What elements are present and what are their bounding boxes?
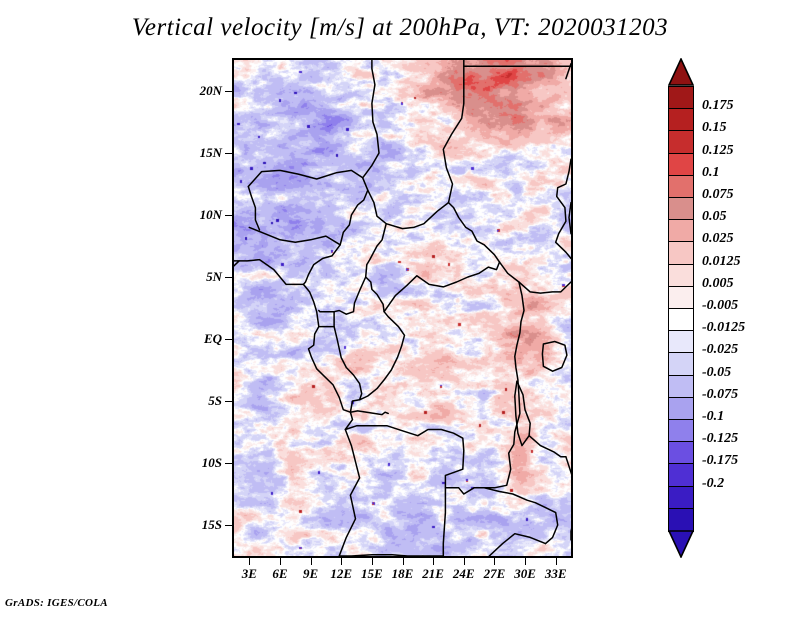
x-tick-label: 33E: [534, 566, 578, 582]
colorbar-swatch: [668, 397, 694, 421]
colorbar-tick-label: -0.175: [702, 453, 738, 469]
y-tick-label: 10N: [180, 207, 222, 223]
x-tick: [341, 558, 342, 565]
colorbar-tick-label: -0.2: [702, 476, 724, 492]
x-tick: [249, 558, 250, 565]
border-line: [248, 187, 259, 230]
colorbar-tick-label: 0.175: [702, 98, 734, 114]
x-tick: [433, 558, 434, 565]
x-tick: [556, 558, 557, 565]
colorbar-tick-label: 0.1: [702, 165, 720, 181]
colorbar-swatch: [668, 175, 694, 199]
colorbar: 0.1750.150.1250.10.0750.050.0250.01250.0…: [668, 58, 694, 558]
x-tick: [525, 558, 526, 565]
colorbar-swatch: [668, 86, 694, 110]
x-tick: [464, 558, 465, 565]
colorbar-swatch: [668, 286, 694, 310]
y-tick: [225, 525, 232, 526]
colorbar-tick-label: -0.075: [702, 387, 738, 403]
attribution-footer: GrADS: IGES/COLA: [5, 597, 108, 609]
colorbar-tick-label: 0.15: [702, 120, 727, 136]
page-title: Vertical velocity [m/s] at 200hPa, VT: 2…: [0, 14, 800, 42]
border-line: [334, 277, 366, 400]
x-tick: [372, 558, 373, 565]
colorbar-swatch: [668, 308, 694, 332]
border-line: [386, 203, 499, 263]
map-plot-area: [232, 58, 573, 558]
y-tick: [225, 277, 232, 278]
colorbar-tick-label: -0.1: [702, 409, 724, 425]
colorbar-swatch: [668, 219, 694, 243]
colorbar-swatch: [668, 130, 694, 154]
x-tick-label: 27E: [472, 566, 516, 582]
y-tick: [225, 339, 232, 340]
x-tick-label: 6E: [258, 566, 302, 582]
colorbar-swatch: [668, 108, 694, 132]
colorbar-swatch: [668, 419, 694, 443]
border-line: [366, 190, 387, 312]
colorbar-tick-label: 0.05: [702, 209, 727, 225]
border-line: [339, 555, 443, 556]
y-tick-label: 15N: [180, 145, 222, 161]
border-line: [345, 426, 484, 494]
x-tick: [280, 558, 281, 565]
border-line: [248, 170, 362, 186]
y-tick-label: 5S: [180, 393, 222, 409]
colorbar-tick-label: 0.025: [702, 231, 734, 247]
colorbar-tick-label: 0.005: [702, 276, 734, 292]
colorbar-swatch: [668, 197, 694, 221]
border-line: [566, 457, 571, 519]
colorbar-swatch: [668, 153, 694, 177]
x-tick-label: 18E: [381, 566, 425, 582]
border-line: [350, 411, 388, 415]
x-tick: [403, 558, 404, 565]
colorbar-swatch: [668, 241, 694, 265]
colorbar-tick-label: -0.0125: [702, 320, 745, 336]
colorbar-swatch: [668, 352, 694, 376]
country-borders-overlay: [234, 60, 571, 556]
x-tick: [494, 558, 495, 565]
border-line: [384, 262, 499, 312]
y-tick-label: 15S: [180, 517, 222, 533]
border-line: [489, 534, 545, 556]
border-line: [363, 60, 379, 178]
x-tick: [311, 558, 312, 565]
y-tick: [225, 215, 232, 216]
border-line: [234, 260, 360, 556]
border-line: [569, 203, 571, 234]
y-tick: [225, 463, 232, 464]
border-line: [529, 436, 566, 457]
colorbar-swatch: [668, 508, 694, 532]
colorbar-cap-top: [668, 58, 694, 86]
border-line: [319, 311, 334, 312]
x-tick-label: 15E: [350, 566, 394, 582]
colorbar-tick-label: -0.125: [702, 431, 738, 447]
x-tick-label: 3E: [227, 566, 271, 582]
colorbar-swatch: [668, 375, 694, 399]
colorbar-tick-label: 0.125: [702, 143, 734, 159]
border-line: [500, 262, 572, 293]
x-tick-label: 24E: [442, 566, 486, 582]
colorbar-tick-label: -0.005: [702, 298, 738, 314]
x-tick-label: 9E: [289, 566, 333, 582]
colorbar-cap-bottom: [668, 530, 694, 558]
y-tick: [225, 401, 232, 402]
border-line: [249, 227, 340, 244]
x-tick-label: 12E: [319, 566, 363, 582]
x-tick-label: 21E: [411, 566, 455, 582]
border-line: [443, 60, 464, 203]
colorbar-swatch: [668, 463, 694, 487]
colorbar-tick-label: 0.0125: [702, 254, 741, 270]
border-line: [556, 159, 571, 258]
border-line: [515, 381, 530, 445]
colorbar-tick-label: -0.05: [702, 365, 731, 381]
y-tick: [225, 153, 232, 154]
border-line: [542, 342, 567, 372]
y-tick-label: 10S: [180, 455, 222, 471]
colorbar-swatch: [668, 264, 694, 288]
y-tick: [225, 91, 232, 92]
colorbar-swatch: [668, 441, 694, 465]
y-tick-label: 5N: [180, 269, 222, 285]
border-line: [303, 178, 367, 285]
x-tick-label: 30E: [503, 566, 547, 582]
colorbar-swatch: [668, 486, 694, 510]
y-tick-label: 20N: [180, 83, 222, 99]
border-line: [350, 312, 404, 413]
colorbar-swatch: [668, 330, 694, 354]
y-tick-label: EQ: [180, 331, 222, 347]
colorbar-tick-label: -0.025: [702, 342, 738, 358]
colorbar-tick-label: 0.075: [702, 187, 734, 203]
border-line: [443, 488, 445, 556]
